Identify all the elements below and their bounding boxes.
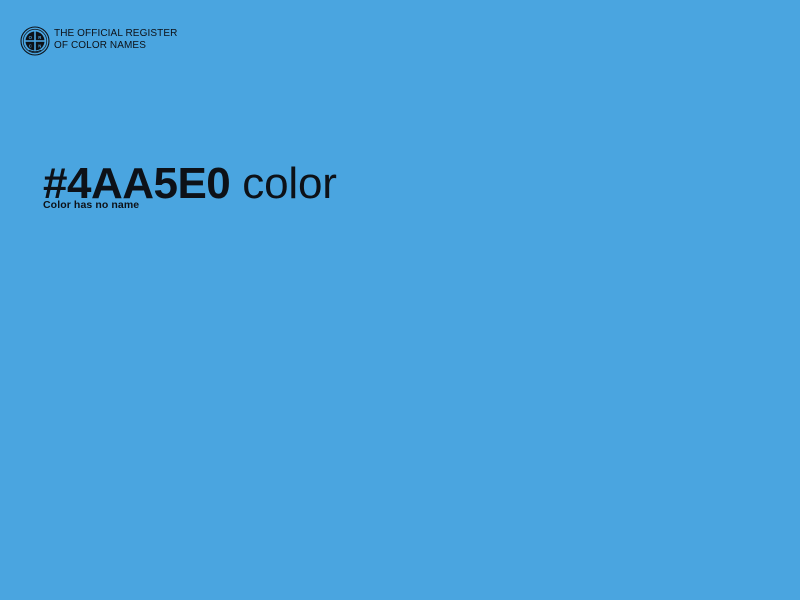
register-seal-icon: O R C N (20, 26, 50, 56)
headline-suffix: color (230, 159, 336, 208)
brand-wordmark-line-1: THE OFFICIAL REGISTER (54, 28, 177, 40)
brand-wordmark: THE OFFICIAL REGISTER OF COLOR NAMES (54, 28, 177, 51)
color-name-status: Color has no name (43, 199, 139, 212)
svg-text:R: R (38, 35, 41, 40)
brand-lockup[interactable]: O R C N THE OFFICIAL REGISTER OF COLOR N… (20, 26, 177, 56)
brand-wordmark-line-2: OF COLOR NAMES (54, 40, 177, 52)
svg-text:N: N (38, 43, 41, 48)
svg-text:C: C (29, 43, 32, 48)
color-page: O R C N THE OFFICIAL REGISTER OF COLOR N… (0, 0, 800, 600)
